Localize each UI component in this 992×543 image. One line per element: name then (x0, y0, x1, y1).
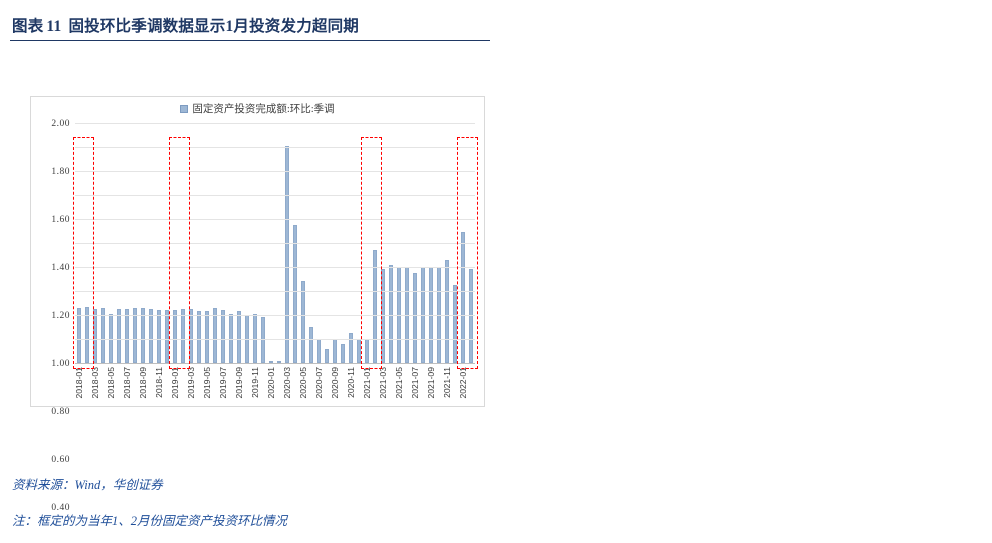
chart-bar (381, 269, 386, 363)
chart-x-slot: 2018-09 (139, 365, 147, 409)
chart-bar (349, 333, 354, 363)
chart-bar (389, 265, 394, 363)
chart-legend: 固定资产投资完成额:环比:季调 (31, 101, 484, 116)
chart-bar (461, 232, 466, 363)
chart-y-tick: 1.40 (51, 263, 70, 273)
chart-bar (341, 344, 346, 363)
chart-x-slot: 2018-01 (75, 365, 83, 409)
chart-bar (93, 309, 98, 363)
chart-x-slot: 2020-05 (299, 365, 307, 409)
bar-chart: 固定资产投资完成额:环比:季调 0.000.200.400.600.801.00… (30, 96, 485, 407)
chart-x-slot: 2019-11 (251, 365, 259, 409)
left-figure-panel: 图表11固投环比季调数据显示1月投资发力超同期 固定资产投资完成额:环比:季调 … (0, 0, 500, 543)
chart-bar (189, 309, 194, 363)
chart-bar (197, 311, 202, 363)
chart-bar (117, 309, 122, 363)
chart-bar (317, 339, 322, 363)
chart-bar (301, 281, 306, 363)
chart-bar (293, 225, 298, 363)
chart-gridline: 1.60 (75, 171, 475, 172)
left-source-note: 资料来源：Wind，华创证券 (12, 474, 163, 493)
legend-label: 固定资产投资完成额:环比:季调 (192, 104, 334, 115)
chart-bar (333, 339, 338, 363)
chart-x-axis-labels: 2018-012018-032018-052018-072018-092018-… (75, 365, 475, 409)
chart-bar (453, 285, 458, 363)
chart-bar (325, 349, 330, 363)
chart-x-slot: 2018-07 (123, 365, 131, 409)
legend-swatch-icon (180, 105, 188, 113)
chart-bar (181, 309, 186, 363)
chart-bar (445, 260, 450, 363)
chart-gridline: 1.00 (75, 243, 475, 244)
chart-x-slot: 2020-07 (315, 365, 323, 409)
left-figure-title-text: 固投环比季调数据显示1月投资发力超同期 (68, 18, 359, 35)
chart-bar (173, 310, 178, 363)
chart-bar (205, 311, 210, 363)
chart-bar (365, 339, 370, 363)
chart-bar (261, 317, 266, 363)
chart-bar (157, 310, 162, 363)
chart-gridline: 1.80 (75, 147, 475, 148)
chart-gridline: 0.40 (75, 315, 475, 316)
right-figure-panel: 图表121-2月部分省市第一批重大项目开工情况梳理 开工时间 省份 重点项目开工… (500, 0, 992, 543)
chart-x-slot: 2019-09 (235, 365, 243, 409)
chart-bar (309, 327, 314, 363)
chart-x-slot: 2018-05 (107, 365, 115, 409)
left-figure-title: 图表11固投环比季调数据显示1月投资发力超同期 (12, 14, 359, 36)
chart-bar (141, 308, 146, 363)
chart-bar (125, 309, 130, 363)
chart-bar (285, 146, 290, 363)
chart-x-slot: 2019-03 (187, 365, 195, 409)
chart-gridline: 0.60 (75, 291, 475, 292)
chart-x-slot: 2020-11 (347, 365, 355, 409)
chart-gridline: 0.80 (75, 267, 475, 268)
chart-bar (213, 308, 218, 363)
chart-y-tick: 1.60 (51, 215, 70, 225)
chart-y-tick: 2.00 (51, 119, 70, 129)
chart-gridline: 1.20 (75, 219, 475, 220)
chart-x-slot: 2021-05 (395, 365, 403, 409)
chart-x-slot: 2021-03 (379, 365, 387, 409)
chart-y-tick: 1.20 (51, 311, 70, 321)
left-figure-number: 11 (43, 18, 68, 35)
chart-x-slot: 2019-05 (203, 365, 211, 409)
chart-plot-area: 0.000.200.400.600.801.001.201.401.601.80… (75, 123, 475, 363)
chart-x-slot: 2019-01 (171, 365, 179, 409)
left-footnote: 注：框定的为当年1、2月份固定资产投资环比情况 (12, 510, 287, 529)
chart-gridline: 2.00 (75, 123, 475, 124)
chart-x-slot: 2021-09 (427, 365, 435, 409)
chart-x-slot: 2019-07 (219, 365, 227, 409)
chart-bar (413, 273, 418, 363)
chart-bar (133, 308, 138, 363)
chart-x-slot: 2021-01 (363, 365, 371, 409)
chart-bar (149, 309, 154, 363)
chart-x-slot: 2021-07 (411, 365, 419, 409)
chart-gridline: 1.40 (75, 195, 475, 196)
chart-gridline: 0.00 (75, 363, 475, 364)
chart-bar (237, 311, 242, 363)
chart-bar (357, 339, 362, 363)
left-title-divider (10, 40, 490, 41)
chart-x-slot: 2020-03 (283, 365, 291, 409)
chart-bar (221, 310, 226, 363)
left-figure-label: 图表 (12, 18, 43, 35)
chart-y-tick: 1.80 (51, 167, 70, 177)
chart-x-slot: 2022-01 (459, 365, 467, 409)
report-page: 图表11固投环比季调数据显示1月投资发力超同期 固定资产投资完成额:环比:季调 … (0, 0, 992, 543)
chart-bar (165, 310, 170, 363)
chart-x-slot: 2018-03 (91, 365, 99, 409)
chart-bar (469, 269, 474, 363)
chart-x-slot (467, 365, 475, 409)
chart-gridline: 0.20 (75, 339, 475, 340)
chart-y-tick: 1.00 (51, 359, 70, 369)
chart-x-slot: 2021-11 (443, 365, 451, 409)
chart-bar (77, 308, 82, 363)
chart-x-slot: 2018-11 (155, 365, 163, 409)
chart-bar (101, 308, 106, 363)
chart-y-tick: 0.60 (51, 455, 70, 465)
chart-x-slot: 2020-01 (267, 365, 275, 409)
chart-y-tick: 0.80 (51, 407, 70, 417)
chart-x-slot: 2020-09 (331, 365, 339, 409)
